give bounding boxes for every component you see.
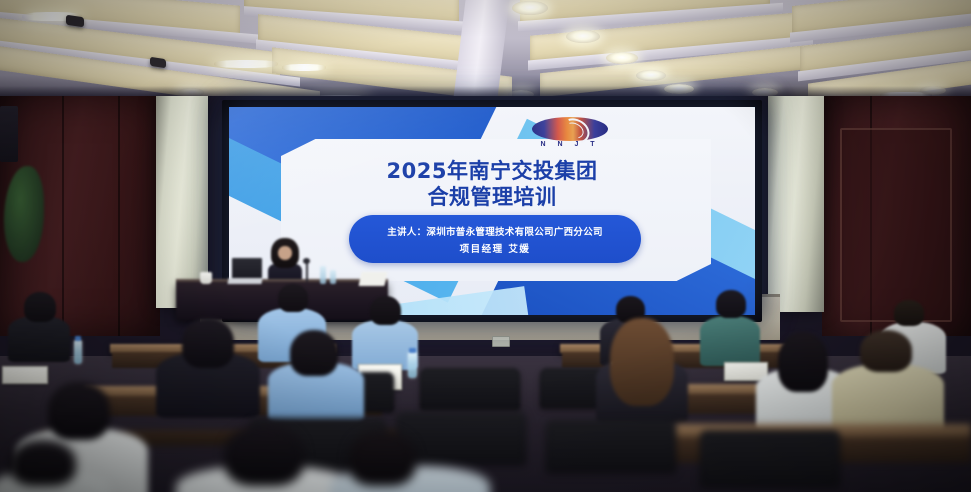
audience-person xyxy=(268,330,364,416)
audience-person xyxy=(596,318,688,422)
chair-back xyxy=(700,430,840,486)
audience-person xyxy=(8,292,70,360)
slide-title-line2: 合规管理培训 xyxy=(229,185,755,211)
ceiling-downlight xyxy=(606,52,638,64)
ceiling-downlight xyxy=(512,1,548,15)
nnjt-logo: N N J T xyxy=(524,115,616,153)
person-hair xyxy=(10,440,76,486)
slide-subtitle-pill: 主讲人：深圳市普永管理技术有限公司广西分公司 项目经理 艾媛 xyxy=(349,215,641,263)
slide-subtitle-line2: 项目经理 艾媛 xyxy=(460,241,531,255)
person-hair xyxy=(24,292,56,322)
person-hair xyxy=(224,424,304,486)
presenter-cup xyxy=(200,272,212,284)
logo-wordmark: N N J T xyxy=(524,141,616,148)
person-hair xyxy=(778,332,828,392)
person-hair xyxy=(370,296,401,325)
chair-back xyxy=(420,368,520,410)
bottle-cap xyxy=(75,336,81,341)
person-hair xyxy=(860,330,912,372)
coffered-ceiling xyxy=(0,0,971,100)
microphone xyxy=(306,262,308,282)
right-pillar xyxy=(768,96,824,312)
presenter-laptop-screen xyxy=(232,258,262,280)
slide-title: 2025年南宁交投集团 合规管理培训 xyxy=(229,159,755,210)
person-torso xyxy=(700,316,760,366)
wall-speaker-icon xyxy=(0,106,18,162)
person-hair xyxy=(48,382,110,440)
presenter-bottle xyxy=(330,270,336,284)
person-hair xyxy=(290,330,338,376)
person-hair xyxy=(348,430,416,486)
presenter-face xyxy=(278,246,292,260)
ceiling-strip-light xyxy=(282,64,326,71)
audience-person xyxy=(0,446,110,492)
water-bottle xyxy=(408,352,417,378)
person-hair xyxy=(610,318,674,406)
slide-subtitle-line1: 主讲人：深圳市普永管理技术有限公司广西分公司 xyxy=(387,224,603,238)
side-door[interactable] xyxy=(840,128,952,322)
ceiling-strip-light xyxy=(214,60,278,68)
bottle-cap xyxy=(409,348,416,353)
water-bottle xyxy=(74,340,82,364)
chair-back xyxy=(546,420,676,472)
audience-person xyxy=(700,292,760,362)
person-hair xyxy=(716,290,746,318)
presenter-bottle xyxy=(320,266,326,284)
slide-title-line1: 2025年南宁交投集团 xyxy=(229,159,755,185)
presenter-laptop-base xyxy=(227,278,262,284)
person-hair xyxy=(894,300,924,326)
microphone-head xyxy=(303,258,310,264)
ceiling-downlight xyxy=(636,70,666,81)
person-torso xyxy=(8,316,70,362)
conference-room-photo: N N J T 2025年南宁交投集团 合规管理培训 主讲人：深圳市普永管理技术… xyxy=(0,0,971,492)
audience-person xyxy=(330,430,490,492)
person-hair xyxy=(182,318,234,368)
ceiling-downlight xyxy=(566,30,600,43)
audience-person xyxy=(832,330,944,430)
wall-outlet xyxy=(492,336,510,347)
audience-person xyxy=(156,318,260,412)
audience-person xyxy=(176,424,356,492)
person-hair xyxy=(278,284,308,312)
presenter-paper xyxy=(359,272,388,286)
